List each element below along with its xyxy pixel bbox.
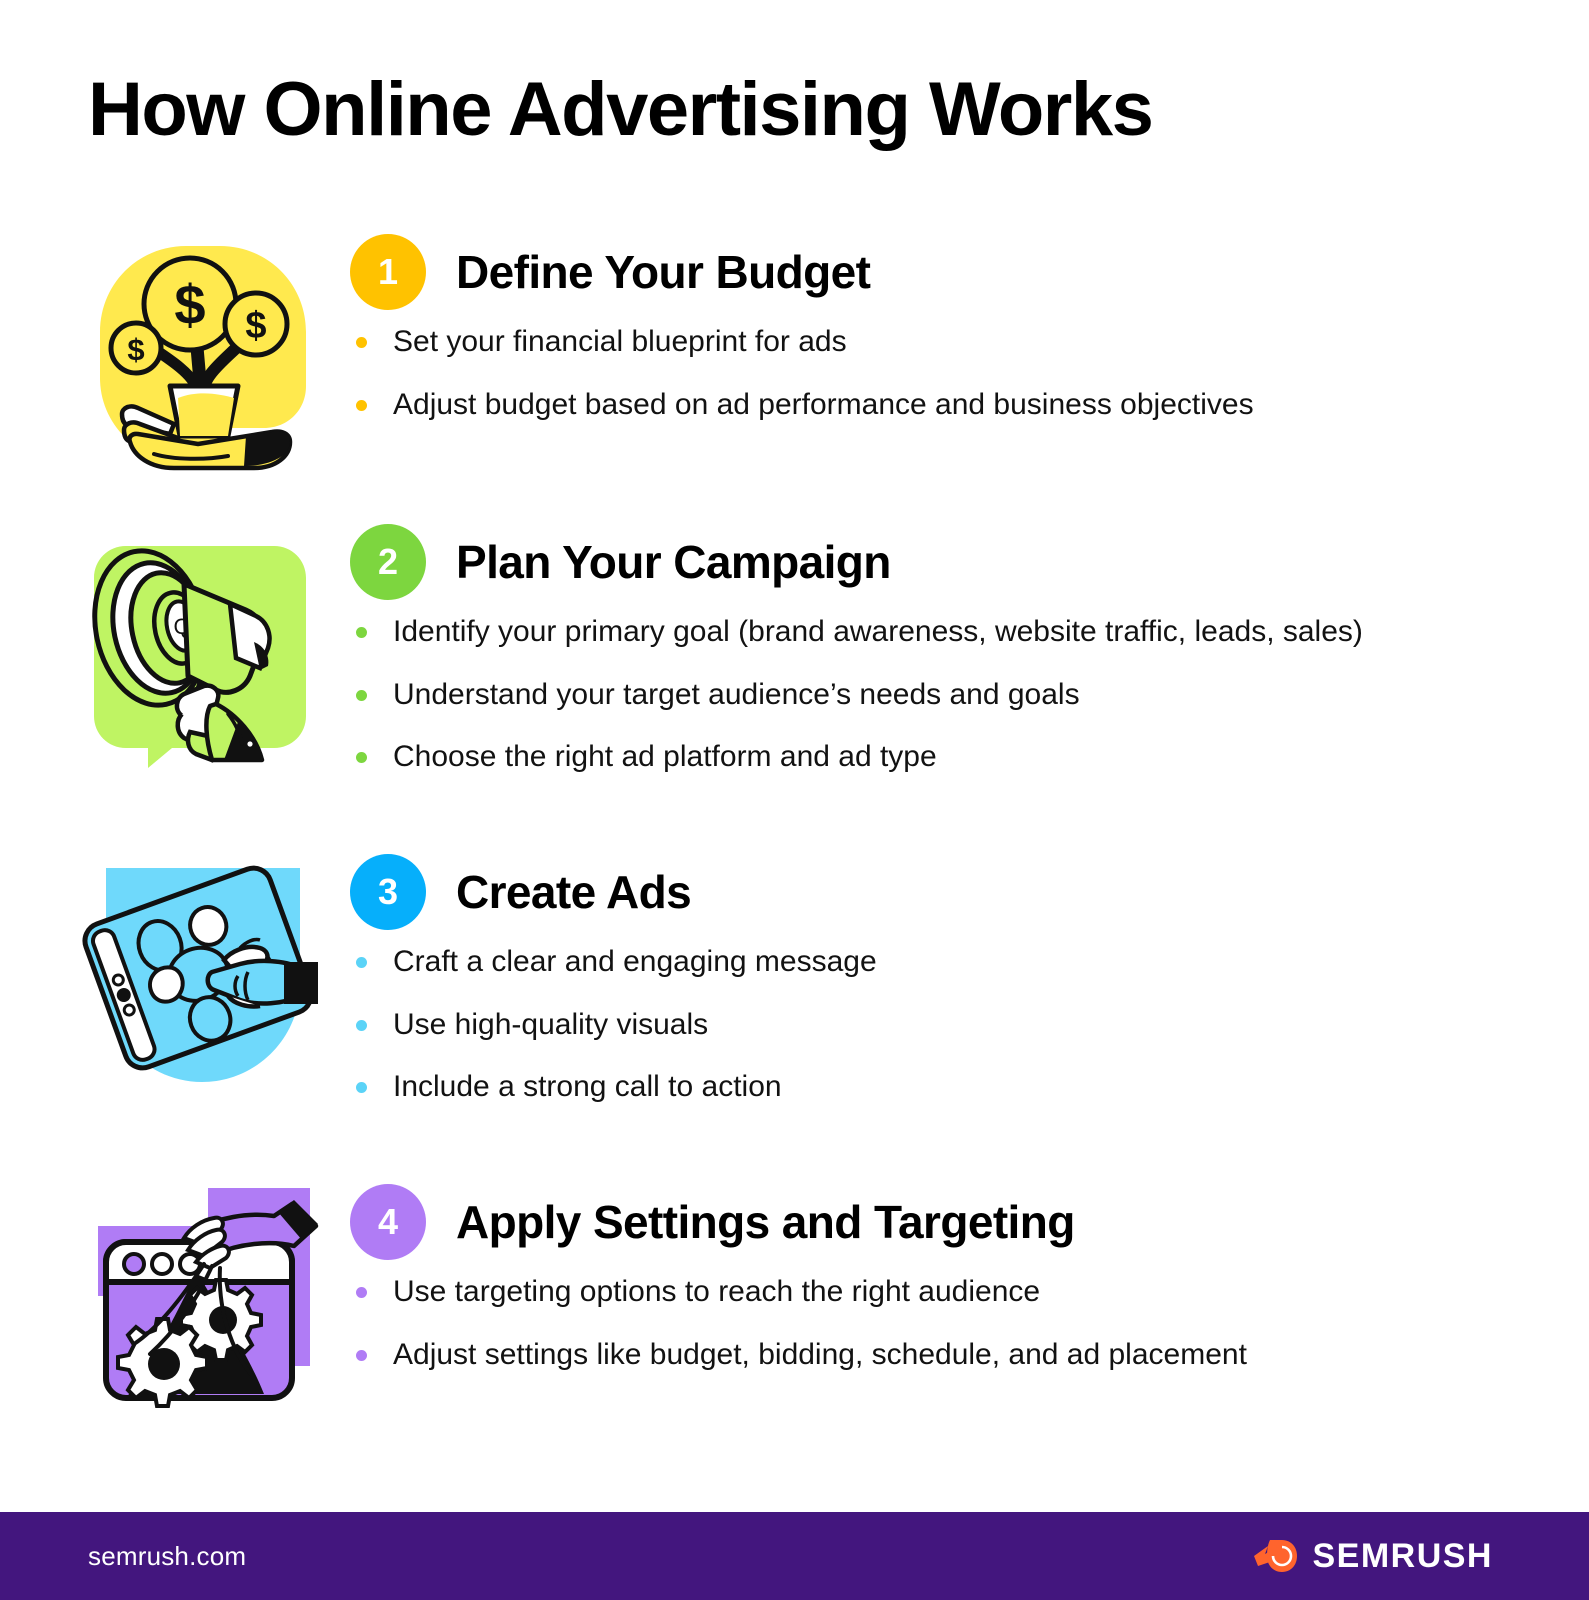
bullet-dot-icon [356,1287,367,1298]
step-header-2: 2 Plan Your Campaign [350,526,1589,598]
bullet-item: Use high-quality visuals [356,1005,1589,1046]
step-content-4: 4 Apply Settings and Targeting Use targe… [350,1178,1589,1375]
bullet-item: Understand your target audience’s needs … [356,675,1589,716]
bullet-dot-icon [356,1082,367,1093]
step-content-3: 3 Create Ads Craft a clear and engaging … [350,848,1589,1108]
bullet-text: Craft a clear and engaging message [393,942,877,983]
tablet-hand-icon [78,848,328,1098]
bullet-text: Use high-quality visuals [393,1005,708,1046]
bullet-dot-icon [356,400,367,411]
step-badge-1: 1 [350,234,426,310]
step-title-4: Apply Settings and Targeting [456,1195,1075,1249]
bullet-item: Choose the right ad platform and ad type [356,737,1589,778]
step-item-2: Q 2 Plan Your Campaign [0,518,1589,848]
footer-bar: semrush.com SEMRUSH [0,1512,1589,1600]
money-plant-icon: $ $ $ [78,228,328,478]
step-header-3: 3 Create Ads [350,856,1589,928]
svg-text:$: $ [174,273,205,336]
step-item-4: 4 Apply Settings and Targeting Use targe… [0,1178,1589,1438]
bullet-item: Set your financial blueprint for ads [356,322,1589,363]
step-badge-3: 3 [350,854,426,930]
browser-gears-icon [78,1178,328,1428]
page-title: How Online Advertising Works [88,72,1152,148]
bullet-item: Use targeting options to reach the right… [356,1272,1589,1313]
step-title-1: Define Your Budget [456,245,870,299]
step-header-1: 1 Define Your Budget [350,236,1589,308]
step-bullets-3: Craft a clear and engaging message Use h… [350,942,1589,1108]
svg-text:$: $ [245,305,266,347]
bullet-text: Set your financial blueprint for ads [393,322,847,363]
bullet-dot-icon [356,627,367,638]
bullet-text: Include a strong call to action [393,1067,782,1108]
bullet-item: Adjust settings like budget, bidding, sc… [356,1335,1589,1376]
step-content-2: 2 Plan Your Campaign Identify your prima… [350,518,1589,778]
step-title-2: Plan Your Campaign [456,535,891,589]
bullet-dot-icon [356,1020,367,1031]
step-bullets-2: Identify your primary goal (brand awaren… [350,612,1589,778]
semrush-logo[interactable]: SEMRUSH [1252,1536,1493,1576]
megaphone-icon: Q [78,518,328,768]
step-item-1: $ $ $ 1 Define Your Budget [0,228,1589,518]
steps-list: $ $ $ 1 Define Your Budget [0,228,1589,1438]
step-bullets-4: Use targeting options to reach the right… [350,1272,1589,1375]
step-bullets-1: Set your financial blueprint for ads Adj… [350,322,1589,425]
bullet-item: Include a strong call to action [356,1067,1589,1108]
step-header-4: 4 Apply Settings and Targeting [350,1186,1589,1258]
step-badge-2: 2 [350,524,426,600]
svg-text:$: $ [127,332,144,367]
bullet-text: Identify your primary goal (brand awaren… [393,612,1363,653]
footer-website-url[interactable]: semrush.com [88,1541,246,1572]
step-title-3: Create Ads [456,865,691,919]
bullet-dot-icon [356,1350,367,1361]
bullet-item: Identify your primary goal (brand awaren… [356,612,1589,653]
bullet-text: Adjust budget based on ad performance an… [393,385,1254,426]
bullet-dot-icon [356,957,367,968]
bullet-item: Craft a clear and engaging message [356,942,1589,983]
step-badge-4: 4 [350,1184,426,1260]
bullet-item: Adjust budget based on ad performance an… [356,385,1589,426]
bullet-dot-icon [356,690,367,701]
semrush-wordmark: SEMRUSH [1312,1537,1493,1576]
semrush-comet-icon [1252,1536,1298,1576]
bullet-text: Understand your target audience’s needs … [393,675,1080,716]
step-content-1: 1 Define Your Budget Set your financial … [350,228,1589,425]
bullet-text: Use targeting options to reach the right… [393,1272,1040,1313]
step-item-3: 3 Create Ads Craft a clear and engaging … [0,848,1589,1178]
bullet-text: Choose the right ad platform and ad type [393,737,937,778]
bullet-dot-icon [356,337,367,348]
bullet-text: Adjust settings like budget, bidding, sc… [393,1335,1247,1376]
bullet-dot-icon [356,752,367,763]
